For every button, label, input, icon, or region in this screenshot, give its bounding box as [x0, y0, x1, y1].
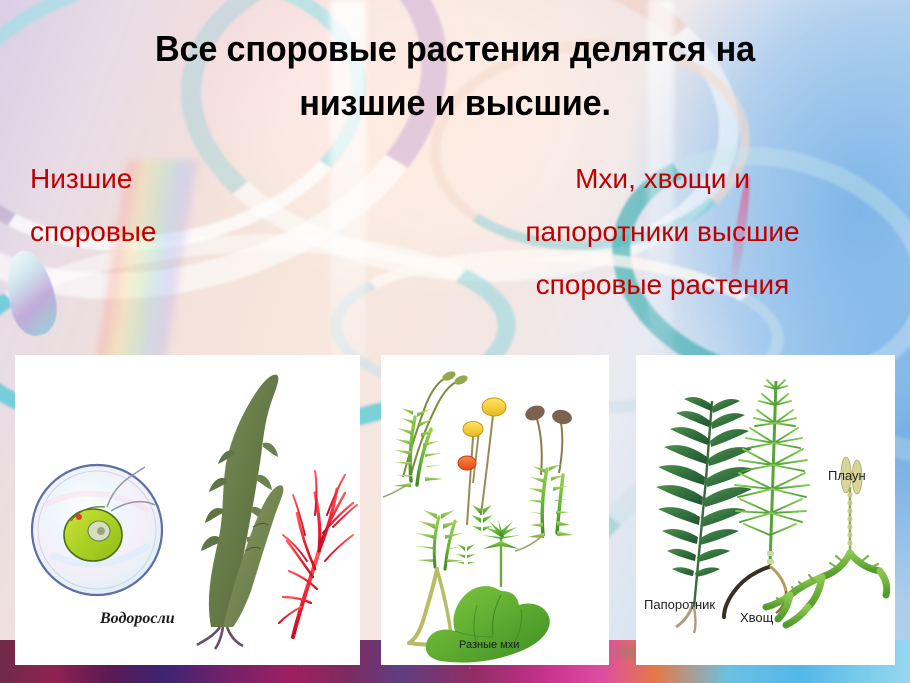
- label-lower-spore-plants: Низшие споровые: [30, 152, 330, 258]
- moss-capsule-stalks-icon: [456, 398, 506, 564]
- moss-with-setae-icon: [383, 369, 469, 497]
- moss-brown-capsules-icon: [515, 403, 573, 551]
- image-panel-algae: Водоросли: [15, 355, 360, 665]
- label-higher-spore-plants: Мхи, хвощи и папоротники высшие споровые…: [435, 152, 890, 311]
- caption-mosses: Разные мхи: [459, 639, 519, 651]
- algae-illustration: [15, 355, 360, 665]
- image-panel-mosses: Разные мхи: [381, 355, 609, 665]
- image-panel-higher-spore-plants: Папоротник Хвощ Плаун: [636, 355, 895, 665]
- label-fern: Папоротник: [644, 597, 715, 612]
- label-clubmoss: Плаун: [828, 468, 866, 483]
- page-title: Все споровые растения делятся на низшие …: [23, 22, 888, 130]
- red-alga-icon: [279, 471, 357, 637]
- chlamydomonas-disc-icon: [32, 465, 162, 595]
- moss-rosette-icon: [481, 519, 521, 587]
- caption-algae: Водоросли: [100, 610, 175, 628]
- slide-canvas: Все споровые растения делятся на низшие …: [0, 0, 910, 683]
- label-horsetail: Хвощ: [740, 610, 773, 625]
- mosses-illustration: [381, 355, 609, 665]
